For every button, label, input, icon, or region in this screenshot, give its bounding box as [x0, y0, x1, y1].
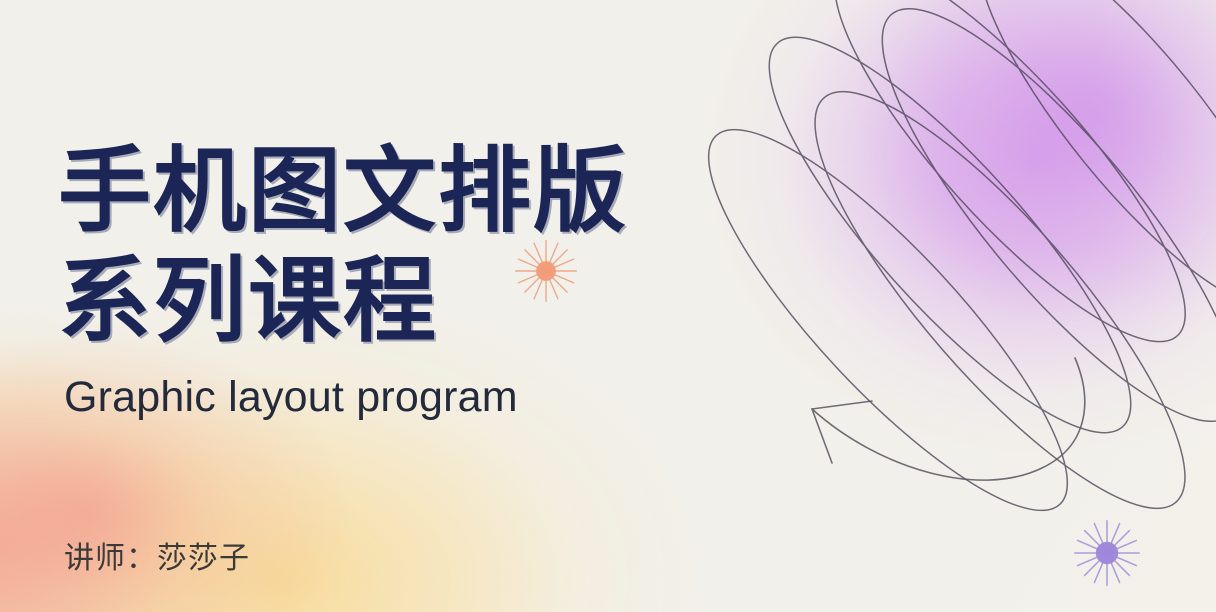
instructor-label: 讲师：莎莎子	[64, 533, 250, 577]
poster-text-block: 手机图文排版 系列课程 Graphic layout program	[58, 142, 758, 422]
page-title-line-1: 手机图文排版	[58, 142, 758, 242]
page-subtitle-english: Graphic layout program	[64, 373, 758, 422]
starburst-icon	[1072, 518, 1142, 588]
course-poster: 手机图文排版 系列课程 Graphic layout program 讲师：莎莎…	[0, 0, 1216, 612]
purple-gradient-blob-accent	[796, 0, 1216, 360]
curved-arrow-icon	[812, 358, 1085, 480]
page-title-line-2: 系列课程	[58, 252, 758, 352]
